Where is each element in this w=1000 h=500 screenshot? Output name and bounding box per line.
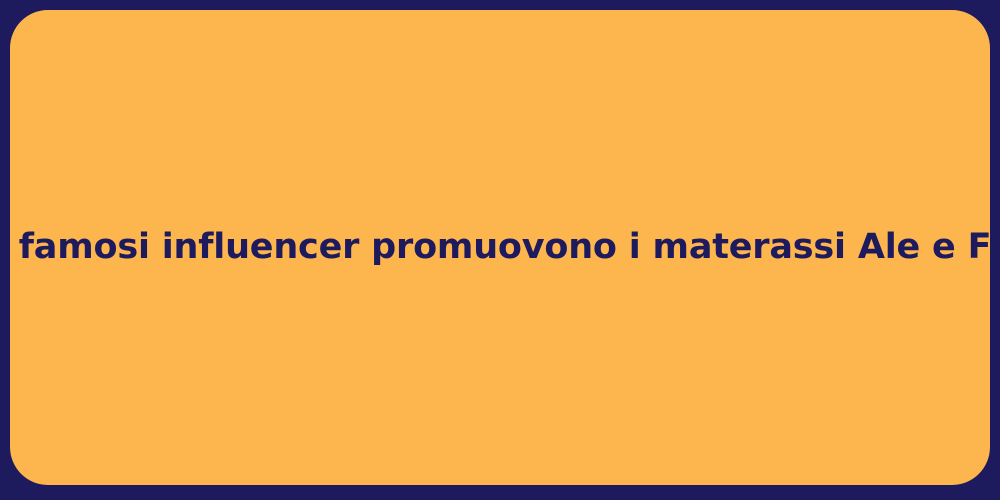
page-background: Quali famosi influencer promuovono i mat…: [0, 0, 1000, 500]
question-card: Quali famosi influencer promuovono i mat…: [10, 10, 990, 485]
question-heading: Quali famosi influencer promuovono i mat…: [0, 226, 1000, 270]
